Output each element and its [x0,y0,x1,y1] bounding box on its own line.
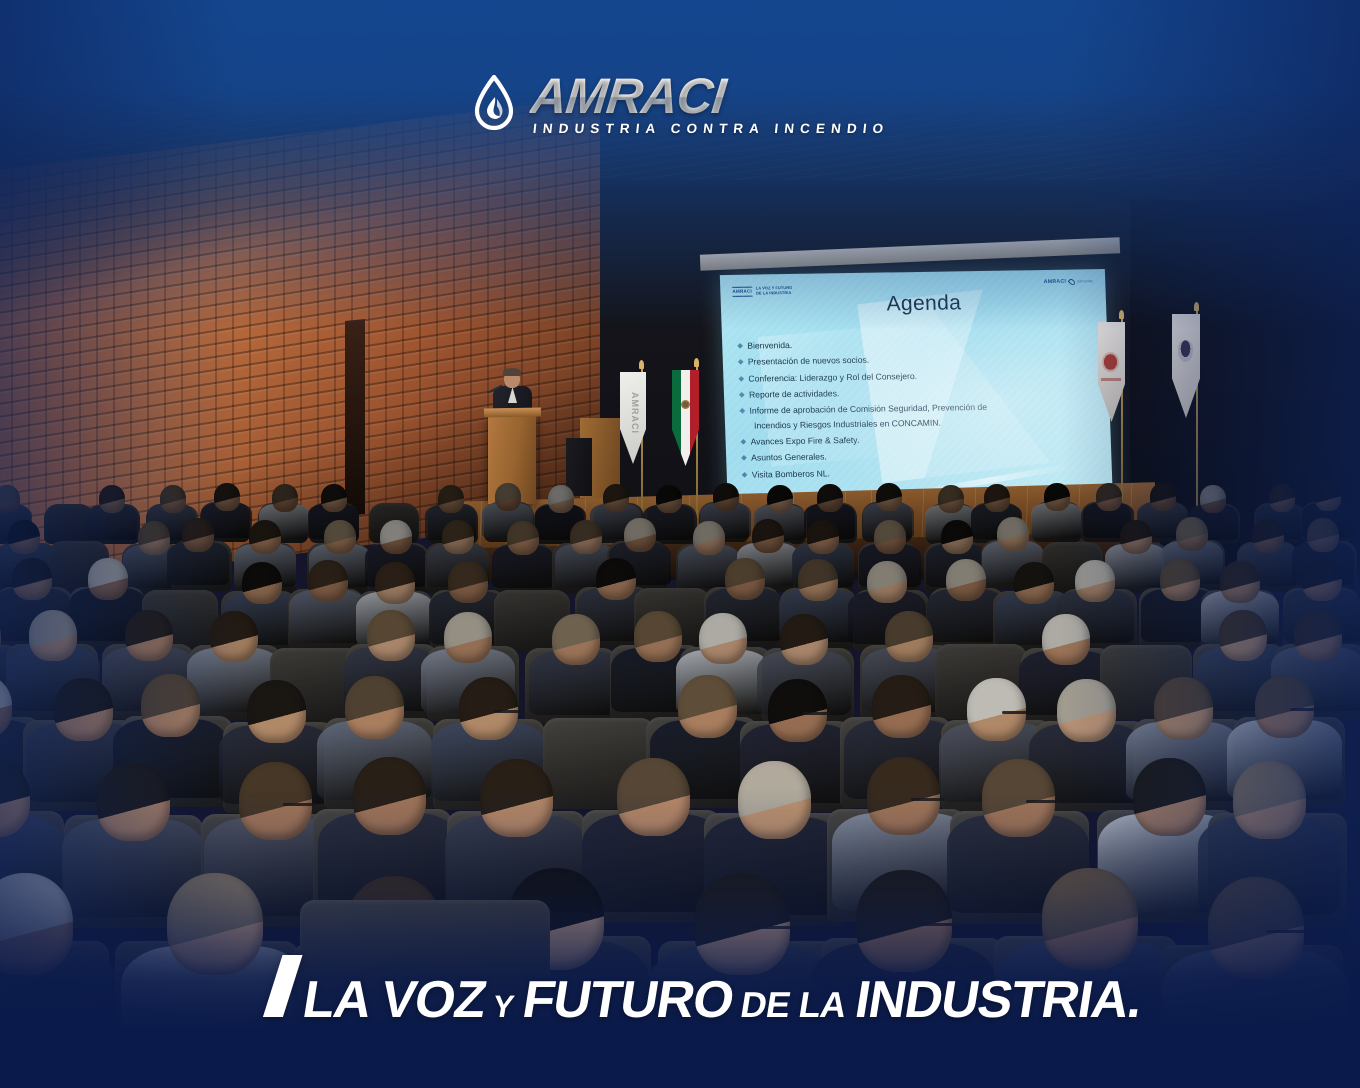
audience-member-head [1096,483,1122,511]
amraci-brand-lockup: AMRACI INDUSTRIA CONTRA INCENDIO [0,72,1360,136]
slide-logo-left-tagline: LA VOZ Y FUTURODE LA INDUSTRIA [756,286,793,296]
audience-member-head [459,677,518,740]
agenda-list: Bienvenida. Presentación de nuevos socio… [738,333,1098,484]
audience-member-head [321,484,347,512]
audience-member-head [345,676,404,739]
eyeglasses-icon [911,798,945,801]
eyeglasses-icon [1026,800,1060,803]
audience-member-head [798,559,838,601]
audience-member-head [1057,679,1116,742]
audience-member-head [1044,483,1070,511]
audience-member-head [1220,561,1260,603]
audience-member-head [738,761,811,839]
diamond-bullet-icon [741,455,746,460]
brand-name: AMRACI [528,72,891,120]
audience-member-head [448,561,488,603]
tagline-word-1: LA VOZ [299,974,489,1026]
slide-title: Agenda [886,291,962,316]
audience-member-head [984,484,1010,512]
eyeglasses-icon [1266,930,1310,933]
audience-member-head [1014,562,1054,604]
flag-finial [1119,310,1124,319]
eyeglasses-icon [1002,711,1029,714]
audience-member-head [1150,483,1176,511]
diamond-bullet-icon [741,439,746,444]
audience-member-head [552,614,600,665]
audience-member-head [442,520,474,554]
event-photograph: AMRACI LA VOZ Y FUTURODE LA INDUSTRIA AM… [0,0,1360,1088]
audience-member-head [88,558,128,600]
audience-member-head [495,483,521,511]
audience-member-head [160,485,186,513]
audience-member-head [1154,677,1213,740]
audience-member-head [725,558,765,600]
audience-member-head [780,614,828,665]
audience-member-head [938,485,964,513]
slide-logo-right-name: AMRACI [1044,279,1067,285]
audience-member-head [752,519,784,553]
audience-member-head [272,484,298,512]
tagline-word-2: Y [491,991,516,1022]
audience-member-head [872,675,931,738]
audience-member-head [603,484,629,512]
audience-member-head [0,485,20,513]
eyeglasses-icon [283,803,317,806]
flag-finial [639,360,644,369]
audience-member-head [997,517,1029,551]
audience-member-head [324,520,356,554]
audience-member-head [1219,610,1267,661]
audience-member-head [624,518,656,552]
audience-member-head [239,762,312,840]
audience-member-head [97,763,170,841]
audience-member-head [1160,559,1200,601]
audience-member-head [1120,520,1152,554]
eyeglasses-icon [494,710,521,713]
audience-member-head [249,520,281,554]
speaker-hair [503,368,521,376]
tagline-banner: LA VOZ Y FUTURO DE LA INDUSTRIA. [266,955,1148,1026]
eyeglasses-icon [803,712,830,715]
audience-member-head [1208,877,1304,979]
audience-member-head [634,611,682,662]
audience-member-head [946,559,986,601]
slide-logo-right-sub: EXPO FIRE [1077,279,1093,283]
diamond-bullet-icon [739,392,744,397]
audience-member-head [214,483,240,511]
audience-member-head [380,520,412,554]
audience-member-head [678,675,737,738]
audience-member-head [867,561,907,603]
audience-member-head [1302,559,1342,601]
audience-member-head [141,674,200,737]
audience-member-head [1075,560,1115,602]
amraci-event-poster: AMRACI LA VOZ Y FUTURODE LA INDUSTRIA AM… [0,0,1360,1088]
audience-member-head [210,611,258,662]
audience-member-head [967,678,1026,741]
audience-member-head [570,520,602,554]
audience-member-head [242,562,282,604]
audience-member-head [817,484,843,512]
tagline-word-3: FUTURO [519,974,737,1026]
audience-member-head [444,612,492,663]
audience-member-head [548,485,574,513]
audience-member-head [876,483,902,511]
slide-logo-left: AMRACI LA VOZ Y FUTURODE LA INDUSTRIA [732,286,792,297]
audience-member-head [874,520,906,554]
brand-tagline: INDUSTRIA CONTRA INCENDIO [530,121,890,136]
audience-member-head [99,485,125,513]
audience-member-head [713,483,739,511]
audience-member-head [807,520,839,554]
water-drop-flame-icon [471,75,517,133]
eyeglasses-icon [1290,708,1317,711]
audience-member-head [941,520,973,554]
audience-member-head [8,520,40,554]
audience-member-head [1252,519,1284,553]
audience-member-head [375,562,415,604]
water-drop-icon [1068,278,1076,286]
audience-member-head [1042,614,1090,665]
audience-member-head [1176,517,1208,551]
tagline-word-5: INDUSTRIA. [852,974,1146,1026]
slide-logo-right: AMRACI EXPO FIRE [1044,278,1094,285]
flag-crest-text [1101,378,1121,381]
diamond-bullet-icon [738,343,743,348]
audience-member-head [308,560,348,602]
audience-member-head [353,757,426,835]
audience-member-head [1307,518,1339,552]
audience-member-head [1269,484,1295,512]
audience-member-head [982,759,1055,837]
audience-member-head [247,680,306,743]
flag-crest-icon [1102,352,1119,372]
audience-member-head [1294,610,1342,661]
diamond-bullet-icon [739,376,744,381]
audience-member-head [693,521,725,555]
slide-logo-left-mark: AMRACI [732,287,752,297]
podium-top [484,408,541,418]
audience-member-head [367,610,415,661]
audience-member-head [12,558,52,600]
audience-member-head [29,610,77,661]
audience-member-head [867,757,940,835]
audience-member-head [596,558,636,600]
flag-finial [694,358,699,367]
audience-member-head [767,485,793,513]
flag-finial [1194,302,1199,311]
eyeglasses-icon [752,926,796,929]
tagline-word-4: DE LA [738,987,849,1023]
audience-member-head [54,678,113,741]
audience-member-head [167,873,263,975]
diamond-bullet-icon [740,408,745,413]
mexican-flag-seal-icon [681,400,690,409]
audience-member-head [182,518,214,552]
audience-member-head [438,485,464,513]
audience-member-head [125,610,173,661]
audience-member-head [1315,483,1341,511]
audience-member-head [507,521,539,555]
audience-member-head [1133,758,1206,836]
audience-member-head [1255,675,1314,738]
audience-member-head [138,521,170,555]
audience-member-head [885,611,933,662]
audience-member-head [480,759,553,837]
audience-member-head [1200,485,1226,513]
audience-member-head [699,613,747,664]
agenda-item: Informe de aprobación de Comisión Seguri… [740,398,1096,433]
amraci-flag-mark: AMRACI [630,392,640,434]
flag-crest-icon [1178,340,1193,362]
eyeglasses-icon [914,923,958,926]
audience-member-head [617,758,690,836]
audience-member-head [768,679,827,742]
diamond-bullet-icon [738,359,743,364]
audience-member-head [656,485,682,513]
audience-member-head [1233,761,1306,839]
